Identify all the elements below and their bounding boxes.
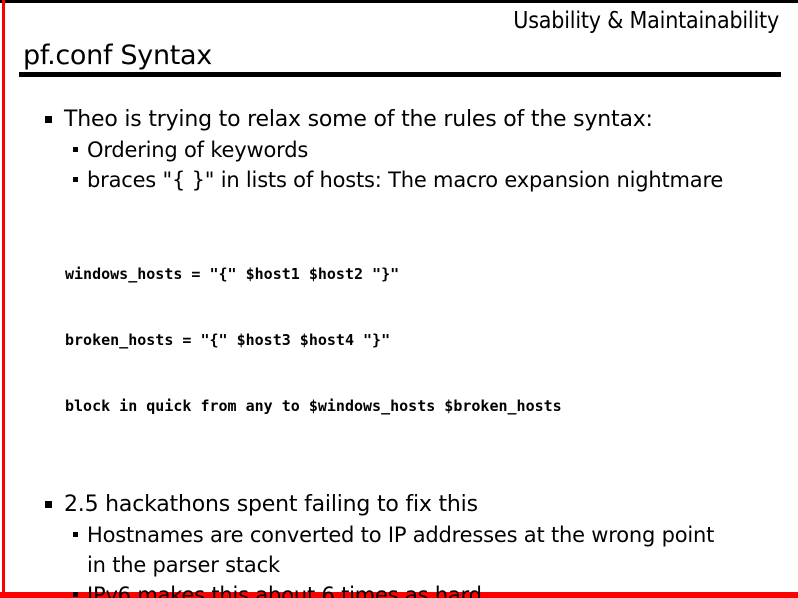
code-line: broken_hosts = "{" $host3 $host4 "}" xyxy=(0,329,798,351)
list-item-label: 2.5 hackathons spent failing to fix this xyxy=(64,492,478,517)
bullet-square-icon xyxy=(45,501,52,508)
list-item-label: IPv6 makes this about 6 times as hard xyxy=(87,583,482,598)
slide-top-border xyxy=(0,0,798,3)
slide-body: Theo is trying to relax some of the rule… xyxy=(0,104,798,598)
list-item-label: Theo is trying to relax some of the rule… xyxy=(64,107,653,132)
page-title: pf.conf Syntax xyxy=(23,40,212,72)
list-item: Hostnames are converted to IP addresses … xyxy=(0,520,798,580)
bullet-square-icon xyxy=(73,147,78,152)
section-label: Usability & Maintainability xyxy=(513,8,779,34)
list-item: Theo is trying to relax some of the rule… xyxy=(0,104,798,135)
bullet-square-icon xyxy=(73,177,78,182)
code-line: block in quick from any to $windows_host… xyxy=(0,395,798,417)
bullet-square-icon xyxy=(73,532,78,537)
list-item: braces "{ }" in lists of hosts: The macr… xyxy=(0,165,798,195)
title-underline-rule xyxy=(19,72,781,77)
list-item-label: Hostnames are converted to IP addresses … xyxy=(87,523,714,577)
bullet-square-icon xyxy=(73,592,78,597)
spacer xyxy=(0,461,798,489)
bullet-square-icon xyxy=(45,116,52,123)
list-item: 2.5 hackathons spent failing to fix this xyxy=(0,489,798,520)
list-item-label: braces "{ }" in lists of hosts: The macr… xyxy=(87,168,723,192)
code-line: windows_hosts = "{" $host1 $host2 "}" xyxy=(0,263,798,285)
list-item: Ordering of keywords xyxy=(0,135,798,165)
list-item: IPv6 makes this about 6 times as hard xyxy=(0,580,798,598)
code-block: windows_hosts = "{" $host1 $host2 "}" br… xyxy=(0,219,798,461)
list-item-label: Ordering of keywords xyxy=(87,138,308,162)
presentation-slide: Usability & Maintainability pf.conf Synt… xyxy=(0,0,798,598)
spacer xyxy=(0,195,798,219)
